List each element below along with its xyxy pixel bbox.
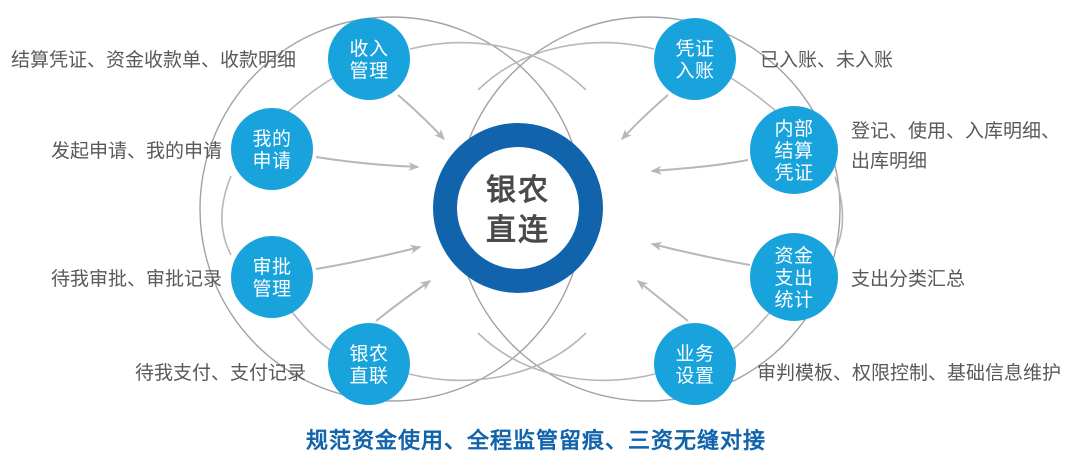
background-rings — [200, 17, 840, 401]
arrow-fund-to-hub — [652, 244, 750, 265]
side-label-text-approval-management-line1: 待我审批、审批记录 — [51, 268, 222, 290]
side-label-business-settings: 审判模板、权限控制、基础信息维护 — [757, 362, 1061, 384]
node-label-voucher-posting-line2: 入账 — [675, 60, 714, 82]
node-business-settings[interactable]: 业务设置 — [654, 323, 736, 405]
hub-label-line2: 直连 — [486, 214, 550, 247]
side-label-internal-settlement-voucher: 登记、使用、入库明细、出库明细 — [851, 120, 1060, 172]
node-label-approval-management-line2: 管理 — [252, 278, 291, 300]
hub-label-line1: 银农 — [486, 174, 550, 207]
node-label-internal-settlement-voucher-line2: 结算 — [774, 140, 813, 162]
arrow-internal-to-hub — [652, 160, 748, 171]
connector-approval-to-bankdirect — [292, 312, 335, 353]
connector-internal-to-fund — [835, 177, 843, 250]
side-label-text-business-settings-line1: 审判模板、权限控制、基础信息维护 — [757, 362, 1061, 384]
node-label-business-settings-line1: 业务 — [675, 343, 714, 365]
arrow-myapp-to-hub — [316, 157, 418, 167]
hub-ring — [445, 135, 591, 281]
node-label-my-application-line1: 我的 — [252, 128, 291, 150]
node-label-business-settings-line2: 设置 — [675, 365, 714, 387]
node-label-fund-expenditure-statistics-line3: 统计 — [774, 289, 813, 311]
node-voucher-posting[interactable]: 凭证入账 — [654, 18, 736, 100]
side-label-text-voucher-posting-line1: 已入账、未入账 — [760, 49, 893, 71]
node-label-income-management-line2: 管理 — [349, 60, 388, 82]
arrow-bankdirect-to-hub — [376, 281, 430, 321]
node-label-bank-agri-direct-line2: 直联 — [349, 365, 388, 387]
side-label-text-income-management-line1: 结算凭证、资金收款单、收款明细 — [11, 49, 296, 71]
connector-myapp-to-approval — [222, 176, 231, 255]
node-bank-agri-direct[interactable]: 银农直联 — [328, 323, 410, 405]
node-my-application[interactable]: 我的申请 — [231, 108, 313, 190]
node-label-voucher-posting-line1: 凭证 — [675, 38, 714, 60]
arrow-voucher-to-hub — [622, 95, 668, 139]
diagram-canvas: 银农 直连 收入管理我的申请审批管理银农直联凭证入账内部结算凭证资金支出统计业务… — [0, 0, 1072, 471]
connector-fund-to-business — [727, 311, 771, 353]
nodes-layer: 收入管理我的申请审批管理银农直联凭证入账内部结算凭证资金支出统计业务设置 — [231, 18, 838, 405]
background-ring-right — [456, 17, 840, 401]
side-label-income-management: 结算凭证、资金收款单、收款明细 — [11, 49, 296, 71]
side-label-fund-expenditure-statistics: 支出分类汇总 — [851, 268, 965, 290]
node-label-approval-management-line1: 审批 — [252, 256, 291, 278]
node-label-income-management-line1: 收入 — [349, 38, 388, 60]
side-label-text-internal-settlement-voucher-line1: 登记、使用、入库明细、 — [851, 120, 1060, 142]
side-label-text-fund-expenditure-statistics-line1: 支出分类汇总 — [851, 268, 965, 290]
side-label-text-internal-settlement-voucher-line2: 出库明细 — [851, 150, 927, 172]
node-label-my-application-line2: 申请 — [252, 150, 291, 172]
node-fund-expenditure-statistics[interactable]: 资金支出统计 — [750, 233, 838, 321]
side-label-text-my-application-line1: 发起申请、我的申请 — [51, 140, 222, 162]
side-label-my-application: 发起申请、我的申请 — [51, 140, 222, 162]
side-label-approval-management: 待我审批、审批记录 — [51, 268, 222, 290]
diagram-root: 银农 直连 收入管理我的申请审批管理银农直联凭证入账内部结算凭证资金支出统计业务… — [0, 0, 1072, 471]
node-connectors — [222, 43, 843, 381]
connector-income-to-ring — [410, 43, 586, 90]
connector-voucher-to-ring — [478, 43, 654, 90]
arrow-business-to-hub — [638, 281, 688, 321]
bottom-caption: 规范资金使用、全程监管留痕、三资无缝对接 — [306, 428, 766, 453]
side-label-text-bank-agri-direct-line1: 待我支付、支付记录 — [135, 362, 306, 384]
side-label-bank-agri-direct: 待我支付、支付记录 — [135, 362, 306, 384]
node-label-fund-expenditure-statistics-line1: 资金 — [774, 245, 813, 267]
node-label-fund-expenditure-statistics-line2: 支出 — [774, 267, 813, 289]
arrow-income-to-hub — [398, 95, 444, 139]
node-label-internal-settlement-voucher-line3: 凭证 — [774, 162, 813, 184]
node-approval-management[interactable]: 审批管理 — [231, 236, 313, 318]
connector-bankdirect-to-ring — [409, 333, 586, 380]
node-internal-settlement-voucher[interactable]: 内部结算凭证 — [750, 106, 838, 194]
node-income-management[interactable]: 收入管理 — [328, 18, 410, 100]
arrow-approval-to-hub — [316, 247, 420, 269]
node-label-internal-settlement-voucher-line1: 内部 — [774, 118, 813, 140]
side-label-voucher-posting: 已入账、未入账 — [760, 49, 893, 71]
connector-business-to-ring — [478, 333, 655, 380]
node-label-bank-agri-direct-line1: 银农 — [349, 343, 388, 365]
hub[interactable]: 银农 直连 — [445, 135, 591, 281]
